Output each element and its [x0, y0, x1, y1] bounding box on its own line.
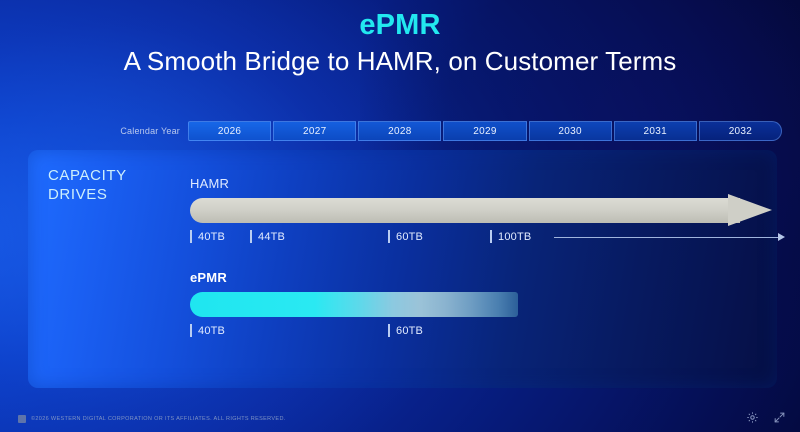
year-cell-2030: 2030: [529, 121, 612, 141]
hamr-tick-100tb: 100TB: [490, 230, 531, 243]
row-label-hamr: HAMR: [190, 176, 777, 191]
panel-title: CAPACITY DRIVES: [48, 166, 127, 204]
fullscreen-icon[interactable]: [773, 411, 786, 424]
roadmap-row-hamr: HAMR 40TB 44TB 60TB: [190, 176, 777, 191]
tick-mark-icon: [190, 324, 192, 337]
slide-header: ePMR A Smooth Bridge to HAMR, on Custome…: [0, 8, 800, 78]
hamr-tick-label-60tb: 60TB: [396, 231, 423, 243]
tick-mark-icon: [190, 230, 192, 243]
hamr-capacity-ticks: 40TB 44TB 60TB 100TB: [190, 230, 800, 246]
tick-mark-icon: [490, 230, 492, 243]
calendar-year-label: Calendar Year: [110, 126, 188, 136]
copyright-text: ©2026 WESTERN DIGITAL CORPORATION OR ITS…: [31, 416, 286, 422]
epmr-tick-60tb: 60TB: [388, 324, 423, 337]
gear-icon[interactable]: [746, 411, 759, 424]
page-title: ePMR: [0, 8, 800, 42]
page-subtitle: A Smooth Bridge to HAMR, on Customer Ter…: [0, 44, 800, 78]
year-cell-2028: 2028: [358, 121, 441, 141]
tick-mark-icon: [388, 230, 390, 243]
row-label-epmr: ePMR: [190, 270, 777, 285]
copyright-notice: ©2026 WESTERN DIGITAL CORPORATION OR ITS…: [18, 415, 286, 423]
epmr-tick-40tb: 40TB: [190, 324, 225, 337]
epmr-capacity-ticks: 40TB 60TB: [190, 324, 800, 340]
epmr-tick-label-40tb: 40TB: [198, 325, 225, 337]
year-cell-2031: 2031: [614, 121, 697, 141]
hamr-tick-40tb: 40TB: [190, 230, 225, 243]
hamr-tick-44tb: 44TB: [250, 230, 285, 243]
roadmap-row-epmr: ePMR 40TB 60TB: [190, 270, 777, 285]
year-cell-2032: 2032: [699, 121, 782, 141]
year-cell-list: 2026 2027 2028 2029 2030 2031 2032: [188, 121, 782, 141]
hamr-continuation-arrow-icon: [778, 233, 785, 241]
hamr-bar-body: [190, 198, 740, 223]
hamr-tick-label-100tb: 100TB: [498, 231, 531, 243]
capacity-drives-panel: CAPACITY DRIVES HAMR 40TB 44TB 60T: [28, 150, 777, 388]
tick-mark-icon: [388, 324, 390, 337]
hamr-tick-label-40tb: 40TB: [198, 231, 225, 243]
epmr-progress-bar: [190, 292, 518, 317]
year-cell-2027: 2027: [273, 121, 356, 141]
epmr-tick-label-60tb: 60TB: [396, 325, 423, 337]
presentation-slide: ePMR A Smooth Bridge to HAMR, on Custome…: [0, 0, 800, 432]
western-digital-logo-icon: [18, 415, 26, 423]
calendar-year-timeline: Calendar Year 2026 2027 2028 2029 2030 2…: [110, 121, 782, 141]
hamr-continuation-line: [554, 237, 780, 238]
hamr-progress-bar: [190, 198, 758, 223]
slide-footer: ©2026 WESTERN DIGITAL CORPORATION OR ITS…: [0, 398, 800, 432]
tick-mark-icon: [250, 230, 252, 243]
year-cell-2029: 2029: [443, 121, 526, 141]
footer-controls: [746, 411, 786, 424]
year-cell-2026: 2026: [188, 121, 271, 141]
hamr-bar-arrowhead: [728, 194, 772, 226]
hamr-tick-label-44tb: 44TB: [258, 231, 285, 243]
hamr-tick-60tb: 60TB: [388, 230, 423, 243]
